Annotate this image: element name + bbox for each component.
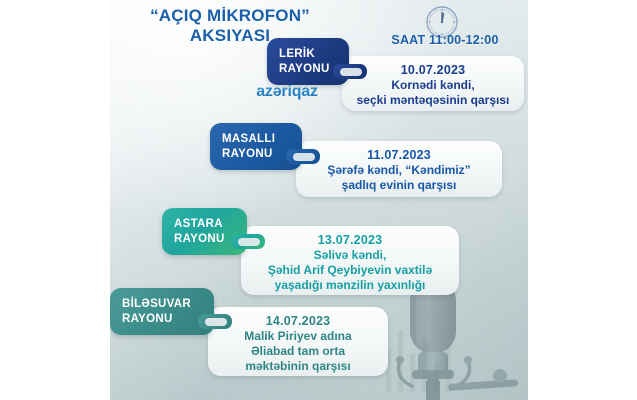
event-address-line: Malik Piriyev adına <box>220 329 376 344</box>
event-card-masalli[interactable]: 11.07.2023 Şərəfə kəndi, “Kəndimiz” şadl… <box>296 141 502 197</box>
district-badge-astara[interactable]: ASTARA RAYONU <box>162 208 247 255</box>
district-badge-line2: RAYONU <box>174 232 233 247</box>
district-badge-masalli[interactable]: MASALLI RAYONU <box>210 123 302 170</box>
screenshot-canvas: “AÇIQ MİKROFON” AKSIYASI <box>0 0 637 400</box>
district-badge-line2: RAYONU <box>122 312 200 327</box>
event-card-astara[interactable]: 13.07.2023 Səlivə kəndi, Şəhid Arif Qeyb… <box>241 226 459 295</box>
event-address: Səlivə kəndi, Şəhid Arif Qeybiyevin vaxt… <box>253 248 447 293</box>
event-date: 10.07.2023 <box>354 63 512 77</box>
azeriqaz-wordmark: azəriqaz <box>232 83 342 101</box>
event-address-line: Şərəfə kəndi, “Kəndimiz” <box>308 163 490 178</box>
district-badge-line2: RAYONU <box>279 62 335 77</box>
event-address-line: məktəbinin qarşısı <box>220 359 376 374</box>
event-address-line: şadlıq evinin qarşısı <box>308 178 490 193</box>
equalizer-bars-icon <box>382 322 522 392</box>
badge-connector <box>198 314 232 329</box>
event-address: Kornədi kəndi, seçki məntəqəsinin qarşıs… <box>354 78 512 108</box>
badge-connector <box>231 234 265 249</box>
badge-connector <box>286 149 320 164</box>
event-address: Malik Piriyev adına Əliabad tam orta mək… <box>220 329 376 374</box>
district-badge-line1: BİLƏSUVAR <box>122 297 200 312</box>
event-address-line: Şəhid Arif Qeybiyevin vaxtilə <box>253 263 447 278</box>
district-badge-bilesuvar[interactable]: BİLƏSUVAR RAYONU <box>110 288 214 335</box>
district-badge-line1: ASTARA <box>174 217 233 232</box>
event-address: Şərəfə kəndi, “Kəndimiz” şadlıq evinin q… <box>308 163 490 193</box>
event-address-line: Səlivə kəndi, <box>253 248 447 263</box>
district-badge-lerik[interactable]: LERİK RAYONU <box>267 38 349 85</box>
event-date: 13.07.2023 <box>253 233 447 247</box>
event-card-lerik[interactable]: 10.07.2023 Kornədi kəndi, seçki məntəqəs… <box>342 56 524 111</box>
badge-connector <box>333 64 367 79</box>
event-date: 14.07.2023 <box>220 314 376 328</box>
campaign-poster: “AÇIQ MİKROFON” AKSIYASI <box>110 0 528 400</box>
event-address-line: Kornədi kəndi, <box>354 78 512 93</box>
event-address-line: Əliabad tam orta <box>220 344 376 359</box>
page-title-line1: “AÇIQ MİKROFON” <box>150 6 310 25</box>
district-badge-line1: LERİK <box>279 47 335 62</box>
event-address-line: yaşadığı mənzilin yaxınlığı <box>253 278 447 293</box>
time-label: SAAT 11:00-12:00 <box>372 33 518 47</box>
event-date: 11.07.2023 <box>308 148 490 162</box>
event-card-bilesuvar[interactable]: 14.07.2023 Malik Piriyev adına Əliabad t… <box>208 307 388 376</box>
district-badge-line1: MASALLI <box>222 132 288 147</box>
district-badge-line2: RAYONU <box>222 147 288 162</box>
event-address-line: seçki məntəqəsinin qarşısı <box>354 93 512 108</box>
